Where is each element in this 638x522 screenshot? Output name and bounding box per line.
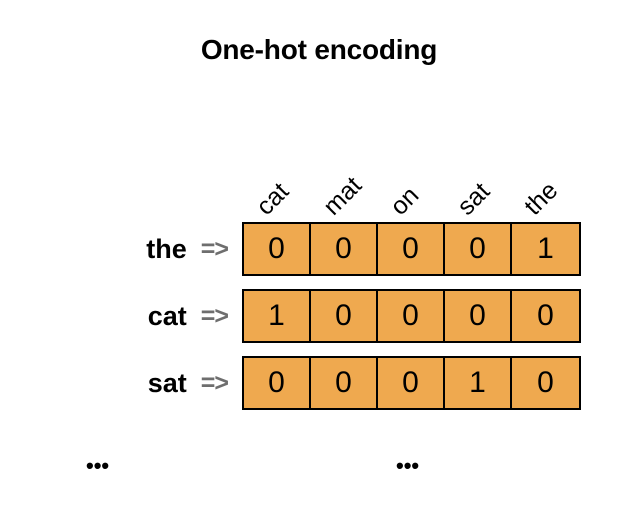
ellipsis-vectors: ••• xyxy=(396,455,419,477)
row-word-cat: cat xyxy=(148,303,187,330)
row-label-the: the => xyxy=(0,222,242,276)
table-row: 1 0 0 0 0 xyxy=(242,289,581,343)
row-arrow-cat: => xyxy=(201,304,228,329)
cell-cat-mat: 0 xyxy=(311,291,378,341)
cell-cat-cat: 1 xyxy=(244,291,311,341)
column-header-row: cat mat on sat the xyxy=(242,120,578,220)
page-title: One-hot encoding xyxy=(0,34,638,66)
cell-sat-the: 0 xyxy=(512,358,579,408)
row-word-sat: sat xyxy=(148,370,187,397)
column-header-mat: mat xyxy=(319,173,366,220)
cell-the-on: 0 xyxy=(378,224,445,274)
row-word-the: the xyxy=(146,236,187,263)
one-hot-encoding-figure: One-hot encoding cat mat on sat the the … xyxy=(0,0,638,522)
table-row: 0 0 0 0 1 xyxy=(242,222,581,276)
column-header-cat: cat xyxy=(252,179,293,220)
row-label-cat: cat => xyxy=(0,289,242,343)
column-header-the: the xyxy=(520,178,562,220)
cell-sat-cat: 0 xyxy=(244,358,311,408)
cell-the-mat: 0 xyxy=(311,224,378,274)
cell-cat-sat: 0 xyxy=(445,291,512,341)
cell-cat-the: 0 xyxy=(512,291,579,341)
table-row: 0 0 0 1 0 xyxy=(242,356,581,410)
cell-the-cat: 0 xyxy=(244,224,311,274)
column-header-sat: sat xyxy=(453,179,494,220)
row-arrow-the: => xyxy=(201,237,228,262)
cell-sat-on: 0 xyxy=(378,358,445,408)
cell-sat-sat: 1 xyxy=(445,358,512,408)
cell-the-sat: 0 xyxy=(445,224,512,274)
column-header-on: on xyxy=(386,183,423,220)
row-label-sat: sat => xyxy=(0,356,242,410)
ellipsis-rows: ••• xyxy=(86,455,109,477)
cell-cat-on: 0 xyxy=(378,291,445,341)
cell-sat-mat: 0 xyxy=(311,358,378,408)
cell-the-the: 1 xyxy=(512,224,579,274)
row-arrow-sat: => xyxy=(201,371,228,396)
